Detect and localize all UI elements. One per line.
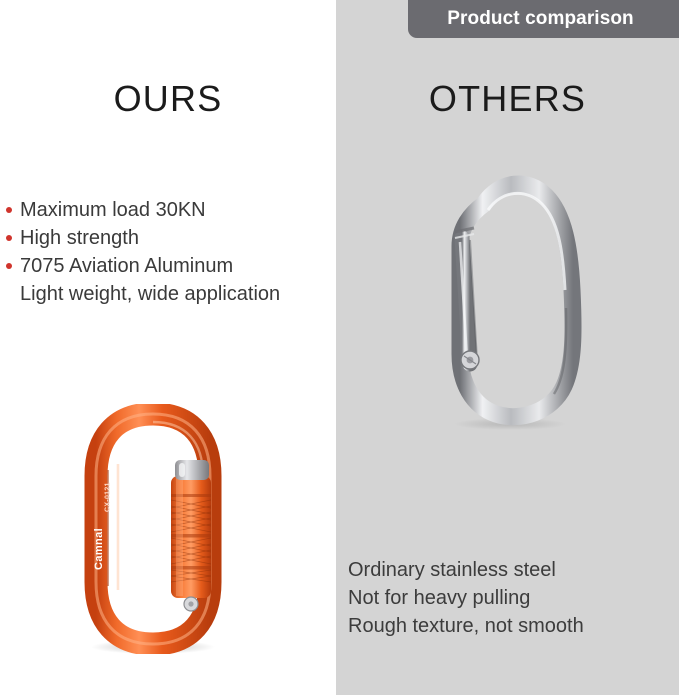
feature-item: High strength	[6, 224, 336, 252]
feature-item: 7075 Aviation Aluminum	[6, 252, 336, 280]
others-notes-list: Ordinary stainless steel Not for heavy p…	[348, 556, 668, 640]
feature-item: Maximum load 30KN	[6, 196, 336, 224]
feature-label: Maximum load 30KN	[20, 196, 336, 224]
ours-product-image	[58, 404, 248, 654]
bullet-icon	[6, 196, 20, 224]
bullet-icon	[6, 224, 20, 252]
ours-heading: OURS	[0, 78, 336, 120]
others-product-image	[424, 168, 596, 430]
others-note: Rough texture, not smooth	[348, 612, 668, 640]
others-heading: OTHERS	[336, 78, 679, 120]
bullet-icon	[6, 252, 20, 280]
banner-label: Product comparison	[447, 8, 640, 30]
others-note: Not for heavy pulling	[348, 584, 668, 612]
feature-label: High strength	[20, 224, 336, 252]
feature-subline: Light weight, wide application	[6, 280, 336, 308]
product-comparison-banner: Product comparison	[408, 0, 679, 38]
ours-feature-list: Maximum load 30KN High strength 7075 Avi…	[6, 196, 336, 308]
feature-label: 7075 Aviation Aluminum	[20, 252, 336, 280]
product-comparison-image: Product comparison OURS OTHERS Maximum l…	[0, 0, 679, 695]
others-note: Ordinary stainless steel	[348, 556, 668, 584]
